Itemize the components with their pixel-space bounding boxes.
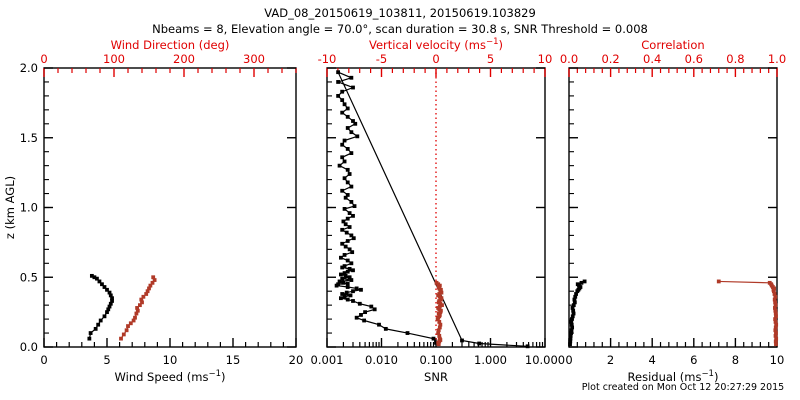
data-point: [346, 285, 350, 289]
xtick-label: 20: [289, 353, 304, 367]
data-point: [355, 134, 359, 138]
data-point: [339, 296, 343, 300]
data-point: [90, 274, 94, 278]
data-point: [349, 151, 353, 155]
data-point: [377, 323, 381, 327]
xtick-label-top: 0: [40, 52, 47, 66]
data-point: [344, 274, 348, 278]
data-point: [384, 327, 388, 331]
data-point: [94, 327, 98, 331]
xtick-label: 10.000: [525, 353, 565, 367]
xtick-label: 6: [690, 353, 697, 367]
data-point: [151, 275, 155, 279]
data-point: [340, 242, 344, 246]
xtick-label-top: 0.4: [643, 52, 661, 66]
data-point: [351, 86, 355, 90]
ytick-label: 0.5: [20, 270, 38, 284]
data-point: [343, 176, 347, 180]
data-point: [345, 231, 349, 235]
xtick-label-top: 5: [487, 52, 494, 66]
xtick-label-top: -5: [376, 52, 387, 66]
plot-timestamp: Plot created on Mon Oct 12 20:27:29 2015: [582, 383, 784, 393]
data-point: [349, 278, 353, 282]
data-point: [583, 280, 587, 284]
data-point: [344, 222, 348, 226]
data-point: [369, 305, 373, 309]
data-point: [348, 172, 352, 176]
data-point: [576, 282, 580, 286]
data-point: [359, 313, 363, 317]
data-point: [343, 253, 347, 257]
data-point: [359, 288, 363, 292]
xaxis-title-top-panel-1: Wind Direction (deg): [111, 38, 230, 52]
data-point: [338, 164, 342, 168]
xtick-label: 4: [649, 353, 656, 367]
chart-panel-3: 02468100.00.20.40.60.81.0Residual (ms−1)…: [560, 38, 786, 384]
series-residual: [568, 280, 586, 347]
data-point: [99, 319, 103, 323]
ytick-label: 0.0: [20, 340, 38, 354]
data-point: [437, 342, 441, 346]
data-point: [346, 239, 350, 243]
ytick-label: 1.0: [20, 201, 38, 215]
series-line: [719, 281, 776, 344]
data-point: [344, 245, 348, 249]
data-point: [346, 282, 350, 286]
data-point: [349, 200, 353, 204]
data-point: [346, 217, 350, 221]
data-point: [355, 287, 359, 291]
data-point: [346, 298, 350, 302]
series-snr: [335, 70, 530, 348]
xtick-label-top: 0.2: [601, 52, 619, 66]
data-point: [122, 333, 126, 337]
data-point: [340, 111, 344, 115]
data-point: [349, 130, 353, 134]
data-point: [340, 228, 344, 232]
xtick-label: 0: [565, 353, 572, 367]
data-point: [340, 266, 344, 270]
ytick-label: 1.5: [20, 131, 38, 145]
data-point: [340, 98, 344, 102]
data-point: [343, 207, 347, 211]
xaxis-title-top-panel-2: Vertical velocity (ms−1): [369, 37, 503, 52]
data-point: [352, 236, 356, 240]
xtick-label: 10: [770, 353, 785, 367]
data-point: [351, 289, 355, 293]
data-point: [346, 126, 350, 130]
data-point: [353, 204, 357, 208]
data-point: [340, 155, 344, 159]
data-point: [346, 168, 350, 172]
xtick-label-top: 10: [538, 52, 553, 66]
xtick-label: 0.100: [420, 353, 453, 367]
data-point: [339, 273, 343, 277]
xtick-label: 15: [226, 353, 241, 367]
data-point: [340, 90, 344, 94]
xtick-label: 5: [103, 353, 110, 367]
xtick-label-top: 300: [243, 52, 265, 66]
data-point: [340, 189, 344, 193]
data-point: [89, 331, 93, 335]
data-point: [362, 319, 366, 323]
data-point: [349, 76, 353, 80]
data-point: [346, 147, 350, 151]
data-point: [373, 307, 377, 311]
data-point: [346, 115, 350, 119]
xaxis-title-panel-1: Wind Speed (ms−1): [115, 369, 226, 384]
data-point: [351, 214, 355, 218]
data-point: [432, 337, 436, 341]
data-point: [355, 316, 359, 320]
ytick-label: 2.0: [20, 61, 38, 75]
data-point: [336, 80, 340, 84]
chart-panel-2: 0.0010.0100.1001.00010.000-10-50510SNRVe…: [311, 37, 566, 384]
series-vertical-velocity: [435, 281, 444, 346]
data-point: [125, 328, 129, 332]
data-point: [340, 143, 344, 147]
xtick-label-top: 0.8: [726, 52, 744, 66]
data-point: [346, 180, 350, 184]
data-point: [348, 211, 352, 215]
data-point: [351, 268, 355, 272]
xaxis-title-panel-2: SNR: [424, 370, 448, 384]
data-point: [335, 284, 339, 288]
plot-area: 0510152001002003000.00.51.01.52.0Wind Sp…: [0, 0, 800, 400]
xtick-label: 8: [732, 353, 739, 367]
data-point: [346, 107, 350, 111]
xtick-label: 0.010: [365, 353, 398, 367]
data-point: [344, 196, 348, 200]
yaxis-title: z (km AGL): [3, 176, 17, 239]
data-point: [119, 337, 123, 341]
xtick-label: 2: [607, 353, 614, 367]
xtick-label-top: 100: [103, 52, 125, 66]
xtick-label-top: 1.0: [768, 52, 786, 66]
xtick-label-top: 0.6: [685, 52, 703, 66]
data-point: [526, 344, 530, 348]
series-wind-direction: [119, 275, 156, 340]
xtick-label-top: 200: [173, 52, 195, 66]
xtick-label-top: -10: [318, 52, 337, 66]
data-point: [349, 185, 353, 189]
data-point: [349, 261, 353, 265]
data-point: [358, 302, 362, 306]
data-point: [351, 299, 355, 303]
figure-canvas: VAD_08_20150619_103811, 20150619.103829 …: [0, 0, 800, 400]
data-point: [103, 314, 107, 318]
data-point: [342, 281, 346, 285]
data-point: [350, 250, 354, 254]
data-point: [339, 256, 343, 260]
axes-frame-panel-1: [44, 68, 296, 347]
series-correlation: [717, 280, 778, 347]
data-point: [460, 339, 464, 343]
data-point: [87, 337, 91, 341]
data-point: [336, 70, 340, 74]
xtick-label: 0.001: [311, 353, 344, 367]
data-point: [363, 310, 367, 314]
data-point: [96, 323, 100, 327]
data-point: [345, 291, 349, 295]
data-point: [133, 316, 137, 320]
data-point: [343, 139, 347, 143]
xtick-label-top: 0: [432, 52, 439, 66]
data-point: [343, 102, 347, 106]
data-point: [717, 280, 721, 284]
data-point: [336, 94, 340, 98]
xtick-label-top: 0.0: [560, 52, 578, 66]
data-point: [768, 281, 772, 285]
data-point: [406, 331, 410, 335]
data-point: [343, 160, 347, 164]
axes-frame-panel-3: [569, 68, 777, 347]
xtick-label: 10: [163, 353, 178, 367]
data-point: [349, 293, 353, 297]
series-wind-speed: [87, 274, 113, 341]
series-line: [337, 72, 528, 346]
data-point: [348, 225, 352, 229]
xtick-label: 0: [40, 353, 47, 367]
xaxis-title-top-panel-3: Correlation: [641, 38, 704, 52]
data-point: [477, 342, 481, 346]
data-point: [353, 122, 357, 126]
xtick-label: 1.000: [474, 353, 507, 367]
data-point: [346, 259, 350, 263]
chart-panel-1: 0510152001002003000.00.51.01.52.0Wind Sp…: [20, 38, 304, 384]
